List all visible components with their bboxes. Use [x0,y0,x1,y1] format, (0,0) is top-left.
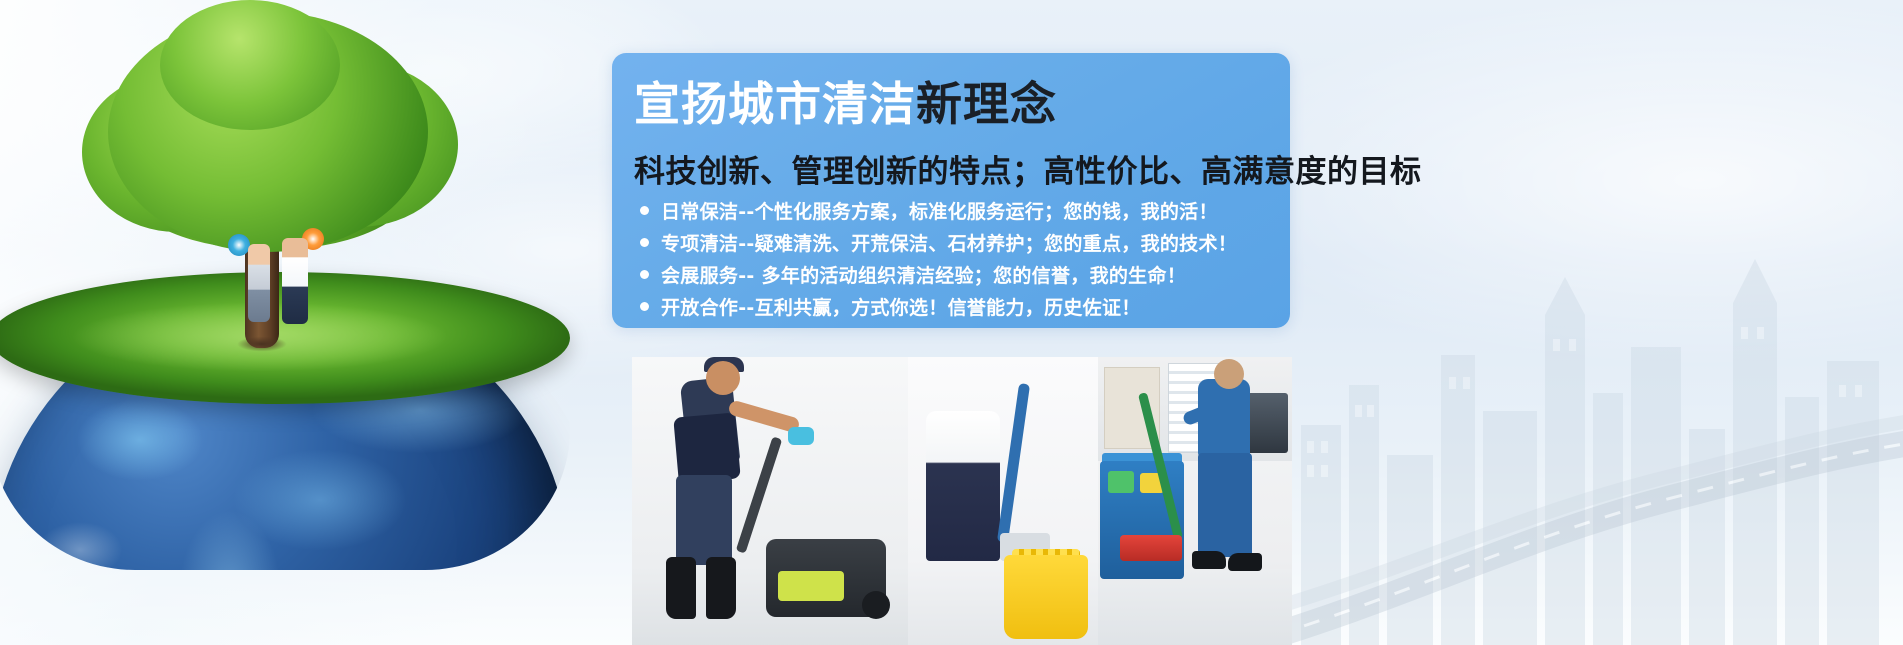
worker-apron [673,412,741,483]
yellow-mop-bucket [1004,555,1088,639]
list-item-label: 日常保洁--个性化服务方案，标准化服务运行；您的钱，我的活！ [661,197,1218,224]
list-item: 日常保洁--个性化服务方案，标准化服务运行；您的钱，我的活！ [640,195,1320,226]
list-item-label: 专项清洁--疑难清洗、开荒保洁、石材养护；您的重点，我的技术！ [661,229,1237,256]
list-item: 专项清洁--疑难清洗、开荒保洁、石材养护；您的重点，我的技术！ [640,227,1320,258]
page-title: 宣扬城市清洁新理念 [634,78,1057,131]
cleaner-head [1214,359,1244,389]
list-item-label: 开放合作--互利共赢，方式你选！信誉能力，历史佐证！ [661,293,1141,320]
mop-bucket-and-wringer-photo [908,357,1098,645]
cart-bottle-green [1108,471,1134,493]
kitchen-floor [1098,569,1292,645]
worker-with-floor-scrubber-photo [632,357,908,645]
red-mop-head [1120,535,1182,561]
globe-tree-artwork [0,0,610,645]
curved-road-illustration [1263,345,1903,645]
list-item: 开放合作--互利共赢，方式你选！信誉能力，历史佐证！ [640,291,1320,322]
floor-scrubber-wheel [862,591,890,619]
bullet-dot-icon [640,302,649,311]
worker-glove [788,427,814,445]
hero-banner: 宣扬城市清洁新理念 科技创新、管理创新的特点；高性价比、高满意度的目标 日常保洁… [0,0,1903,645]
headline-light-text: 宣扬城市清洁 [634,77,916,131]
worker-boot-left [666,557,696,619]
cleaner-shoe-right [1228,553,1262,571]
worker-trousers [926,411,1000,561]
cleaner-legs [1198,453,1252,557]
child-figure-right [282,238,308,324]
child-figure-left [248,244,270,322]
list-item-label: 会展服务-- 多年的活动组织清洁经验；您的信誉，我的生命！ [661,261,1186,288]
bullet-dot-icon [640,238,649,247]
cleaner-mopping-kitchen-photo [1098,357,1292,645]
photo-strip [632,357,1292,645]
headline-dark-text: 新理念 [916,77,1057,131]
page-subtitle: 科技创新、管理创新的特点；高性价比、高满意度的目标 [634,146,1422,191]
tree-canopy-top [160,0,340,130]
scrubber-handle [736,436,783,553]
worker-legs [676,475,732,565]
list-item: 会展服务-- 多年的活动组织清洁经验；您的信誉，我的生命！ [640,259,1320,290]
service-bullet-list: 日常保洁--个性化服务方案，标准化服务运行；您的钱，我的活！ 专项清洁--疑难清… [640,195,1320,323]
floor-scrubber-panel [778,571,844,601]
mop-handle [997,383,1030,543]
bullet-dot-icon [640,270,649,279]
bullet-dot-icon [640,206,649,215]
cleaner-shoe-left [1192,551,1226,569]
pinwheel-blue-icon [228,234,250,256]
cleaner-torso [1198,379,1250,457]
worker-head [706,361,740,395]
worker-boot-right [706,557,736,619]
